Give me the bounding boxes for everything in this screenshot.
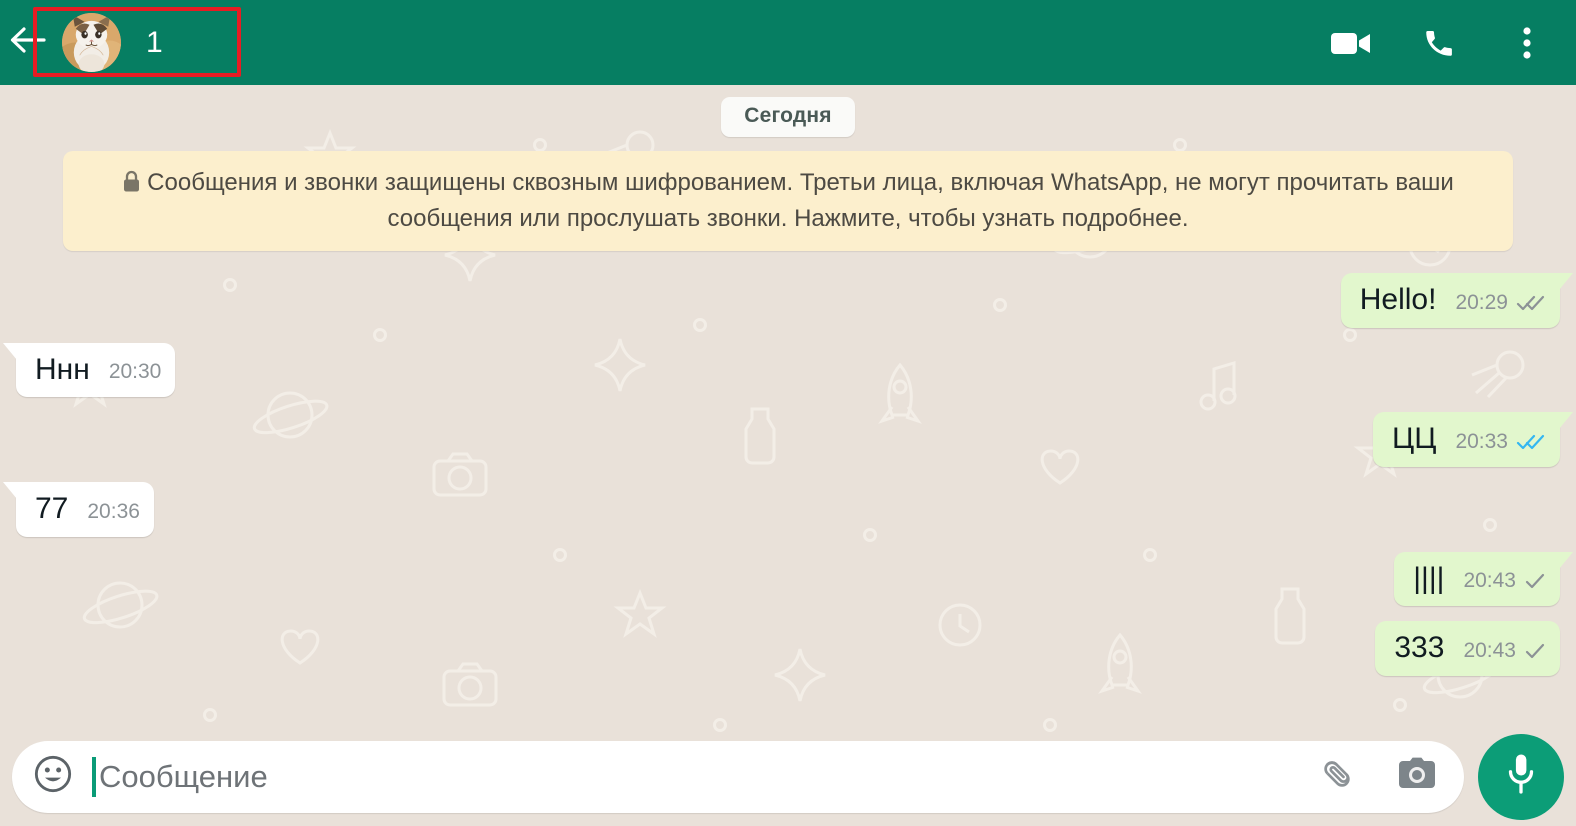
peer-info-button[interactable]: 1 xyxy=(56,12,1330,74)
message-timestamp: 20:30 xyxy=(109,360,162,384)
message-meta: 20:29 xyxy=(1455,291,1546,317)
overflow-menu-icon xyxy=(1523,26,1531,60)
message-text: 77 xyxy=(35,492,68,526)
message-meta: 20:43 xyxy=(1463,639,1546,665)
camera-icon xyxy=(1397,757,1437,796)
page-title: 1 xyxy=(146,26,163,60)
message-row: Ннн20:30 xyxy=(16,343,1560,398)
message-input[interactable]: Сообщение xyxy=(99,759,1316,795)
overflow-menu-button[interactable] xyxy=(1506,22,1548,64)
message-timestamp: 20:33 xyxy=(1455,430,1508,454)
chat-header: 1 xyxy=(0,0,1576,85)
message-meta: 20:33 xyxy=(1455,430,1546,456)
message-meta: 20:30 xyxy=(109,360,162,386)
outgoing-message-bubble[interactable]: ||||20:43 xyxy=(1394,552,1560,607)
encryption-notice-text: Сообщения и звонки защищены сквозным шиф… xyxy=(147,169,1454,232)
message-row: 33320:43 xyxy=(16,621,1560,676)
outgoing-message-bubble[interactable]: 33320:43 xyxy=(1375,621,1560,676)
message-row: 7720:36 xyxy=(16,482,1560,537)
message-timestamp: 20:36 xyxy=(87,500,140,524)
voice-record-button[interactable] xyxy=(1478,734,1564,820)
back-arrow-icon xyxy=(9,24,47,61)
message-timestamp: 20:43 xyxy=(1463,569,1516,593)
message-meta: 20:36 xyxy=(87,500,140,526)
video-call-button[interactable] xyxy=(1330,22,1372,64)
message-meta: 20:43 xyxy=(1463,569,1546,595)
message-text: |||| xyxy=(1413,562,1444,596)
composer-bar: Сообщение xyxy=(0,735,1576,826)
message-status-sent-icon xyxy=(1524,641,1546,661)
whatsapp-chat-screen: 1 xyxy=(0,0,1576,826)
attach-button[interactable] xyxy=(1316,756,1358,798)
cat-avatar-image xyxy=(62,13,121,72)
message-text: ЦЦ xyxy=(1392,422,1436,456)
lock-icon xyxy=(122,169,141,202)
voice-call-icon xyxy=(1422,26,1456,60)
encryption-notice[interactable]: Сообщения и звонки защищены сквозным шиф… xyxy=(63,151,1513,251)
chat-scroll: Сегодня Сообщения и звонки защищены скво… xyxy=(0,85,1576,735)
outgoing-message-bubble[interactable]: Hello!20:29 xyxy=(1341,273,1560,328)
voice-call-button[interactable] xyxy=(1418,22,1460,64)
encryption-notice-row: Сообщения и звонки защищены сквозным шиф… xyxy=(16,151,1560,251)
camera-button[interactable] xyxy=(1396,756,1438,798)
message-list[interactable]: Сегодня Сообщения и звонки защищены скво… xyxy=(0,85,1576,735)
incoming-message-bubble[interactable]: Ннн20:30 xyxy=(16,343,175,398)
composer-actions xyxy=(1316,756,1438,798)
paperclip-icon xyxy=(1318,755,1356,798)
emoji-button[interactable] xyxy=(33,757,73,797)
emoji-smiley-icon xyxy=(33,754,73,799)
message-status-sent-icon xyxy=(1524,571,1546,591)
outgoing-message-bubble[interactable]: ЦЦ20:33 xyxy=(1373,412,1560,467)
messages-container: Hello!20:29Ннн20:30ЦЦ20:337720:36||||20:… xyxy=(16,273,1560,691)
message-text: Hello! xyxy=(1360,283,1437,317)
microphone-icon xyxy=(1503,751,1539,802)
message-status-read-icon xyxy=(1516,432,1546,452)
incoming-message-bubble[interactable]: 7720:36 xyxy=(16,482,154,537)
avatar[interactable] xyxy=(62,13,121,72)
header-actions xyxy=(1330,22,1554,64)
message-text: Ннн xyxy=(35,353,90,387)
back-button[interactable] xyxy=(0,0,56,85)
message-row: ЦЦ20:33 xyxy=(16,412,1560,467)
message-row: ||||20:43 xyxy=(16,552,1560,607)
message-text: 333 xyxy=(1394,631,1444,665)
message-timestamp: 20:29 xyxy=(1455,291,1508,315)
message-status-delivered-icon xyxy=(1516,293,1546,313)
video-call-icon xyxy=(1330,28,1372,58)
message-row: Hello!20:29 xyxy=(16,273,1560,328)
text-cursor xyxy=(92,757,96,797)
date-divider-row: Сегодня xyxy=(16,97,1560,137)
message-timestamp: 20:43 xyxy=(1463,639,1516,663)
date-divider: Сегодня xyxy=(721,97,855,137)
message-input-container[interactable]: Сообщение xyxy=(12,741,1464,813)
